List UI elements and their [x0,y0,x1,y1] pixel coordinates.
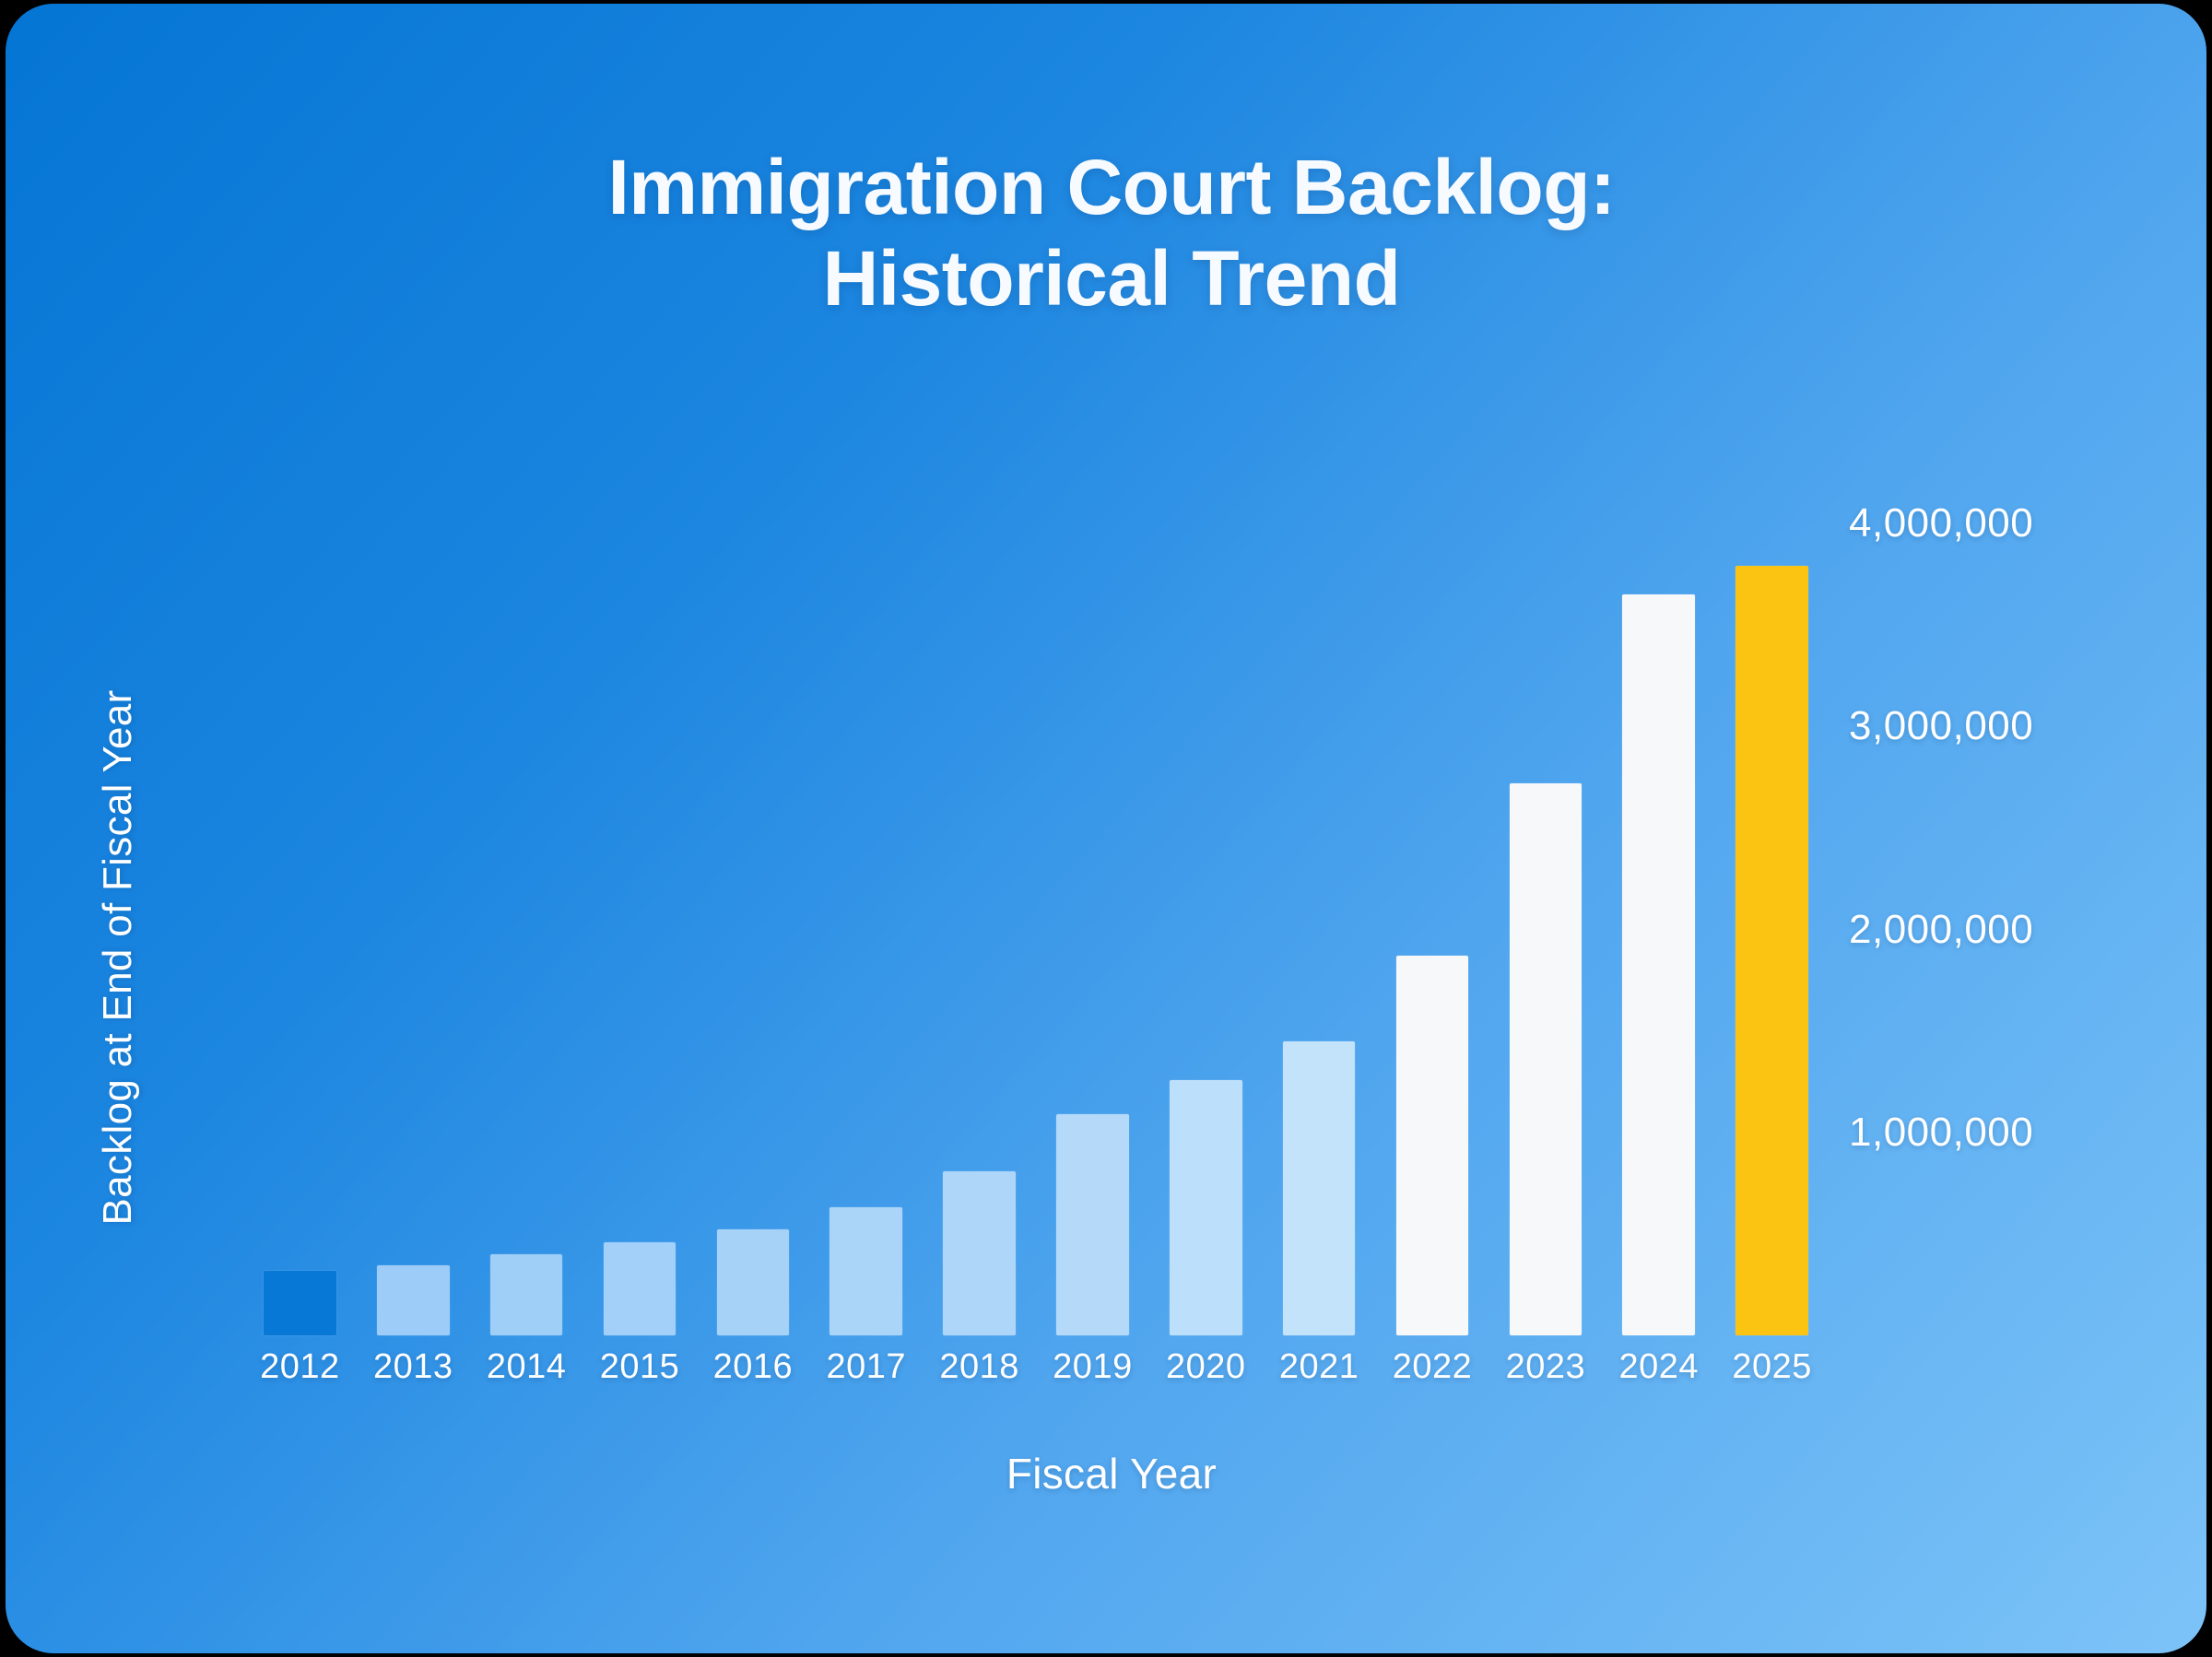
bar-2015[interactable] [604,1242,677,1335]
bar-2013[interactable] [377,1265,450,1335]
bar-slot [1376,483,1489,1335]
x-axis-tick-labels: 2012201320142015201620172018201920202021… [243,1347,1829,1387]
x-tick-label-2021: 2021 [1263,1347,1376,1387]
bar-2014[interactable] [490,1254,563,1335]
bar-2018[interactable] [943,1171,1016,1335]
bar-slot [583,483,697,1335]
bar-2024[interactable] [1622,594,1695,1335]
x-tick-label-2015: 2015 [583,1347,697,1387]
x-axis-title: Fiscal Year [6,1449,2206,1498]
x-tick-label-2014: 2014 [470,1347,583,1387]
slide-canvas: Immigration Court Backlog: Historical Tr… [0,0,2212,1657]
bar-2025[interactable] [1735,566,1808,1335]
y-tick-label: 2,000,000 [1849,907,2033,953]
bar-slot [923,483,1036,1335]
x-tick-label-2017: 2017 [809,1347,923,1387]
bar-slot [809,483,923,1335]
bar-slot [1715,483,1829,1335]
bar-2019[interactable] [1056,1114,1129,1335]
y-axis-title: Backlog at End of Fiscal Year [95,689,141,1225]
x-tick-label-2016: 2016 [696,1347,809,1387]
bar-2012[interactable] [264,1271,336,1335]
x-tick-label-2020: 2020 [1149,1347,1263,1387]
bar-slot [1263,483,1376,1335]
bar-2022[interactable] [1396,956,1469,1335]
bar-slot [1036,483,1149,1335]
x-tick-label-2019: 2019 [1036,1347,1149,1387]
bar-2016[interactable] [717,1229,790,1335]
bar-slot [696,483,809,1335]
bar-slot [1488,483,1602,1335]
bar-slot [470,483,583,1335]
bar-slot [1149,483,1263,1335]
plot-area [243,483,1829,1335]
y-tick-label: 3,000,000 [1849,703,2033,749]
bar-slot [1602,483,1715,1335]
bar-series [243,483,1829,1335]
x-tick-label-2024: 2024 [1602,1347,1715,1387]
bar-2023[interactable] [1510,783,1583,1335]
y-tick-label: 1,000,000 [1849,1110,2033,1156]
x-tick-label-2013: 2013 [357,1347,470,1387]
bar-2020[interactable] [1170,1080,1242,1336]
y-axis-tick-labels: 1,000,0002,000,0003,000,0004,000,000 [1849,4,2199,1653]
y-tick-label: 4,000,000 [1849,500,2033,546]
x-tick-label-2018: 2018 [923,1347,1036,1387]
bar-2017[interactable] [829,1207,902,1335]
bar-slot [357,483,470,1335]
bar-slot [243,483,357,1335]
x-tick-label-2025: 2025 [1715,1347,1829,1387]
bar-2021[interactable] [1283,1041,1356,1335]
x-tick-label-2023: 2023 [1488,1347,1602,1387]
chart-card: Immigration Court Backlog: Historical Tr… [6,4,2206,1653]
x-tick-label-2022: 2022 [1376,1347,1489,1387]
x-tick-label-2012: 2012 [243,1347,357,1387]
